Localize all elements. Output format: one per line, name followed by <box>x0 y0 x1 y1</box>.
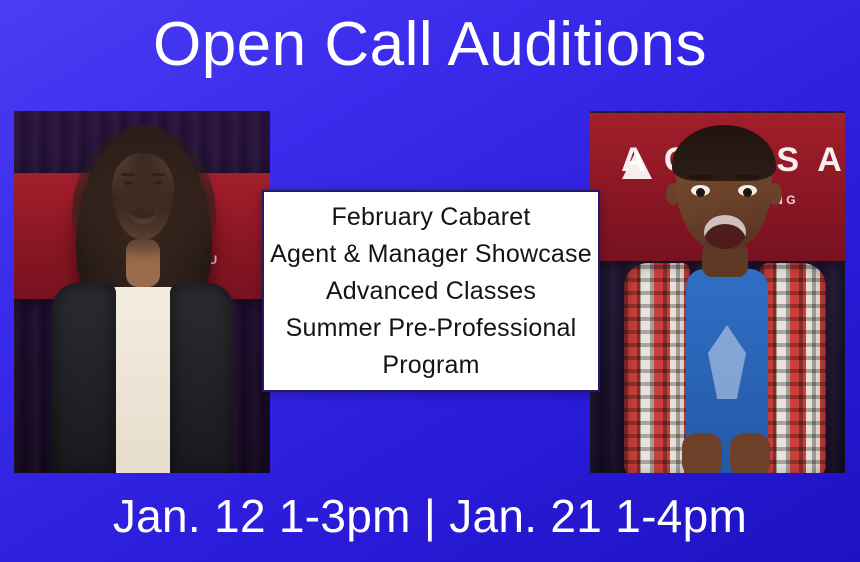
program-item: February Cabaret <box>331 199 530 236</box>
audition-dates: Jan. 12 1-3pm | Jan. 21 1-4pm <box>0 489 860 543</box>
program-item: Advanced Classes <box>326 273 536 310</box>
program-item: Summer Pre-Professional <box>286 310 577 347</box>
pupil-right <box>743 188 752 197</box>
plaid-shirt-right <box>760 263 826 473</box>
leather-jacket-right <box>170 283 234 473</box>
promotional-poster: Open Call Auditions A ct N THE TING STU … <box>0 0 860 562</box>
open-mouth <box>704 215 746 249</box>
leather-jacket-left <box>52 283 116 473</box>
eyebrow-right <box>735 175 759 179</box>
photo-left-performer: A ct N THE TING STU <box>14 111 270 473</box>
plaid-shirt-left <box>624 263 690 473</box>
photo-right-performer: A CLASS A THE AW NNING <box>590 111 845 473</box>
pupil-left <box>696 188 705 197</box>
eyebrow-left <box>689 175 713 179</box>
hand-left <box>682 433 722 473</box>
program-item: Agent & Manager Showcase <box>270 236 592 273</box>
hand-right <box>730 433 770 473</box>
program-list-card: February Cabaret Agent & Manager Showcas… <box>262 190 600 392</box>
page-title: Open Call Auditions <box>0 12 860 79</box>
program-item: Program <box>382 347 479 384</box>
